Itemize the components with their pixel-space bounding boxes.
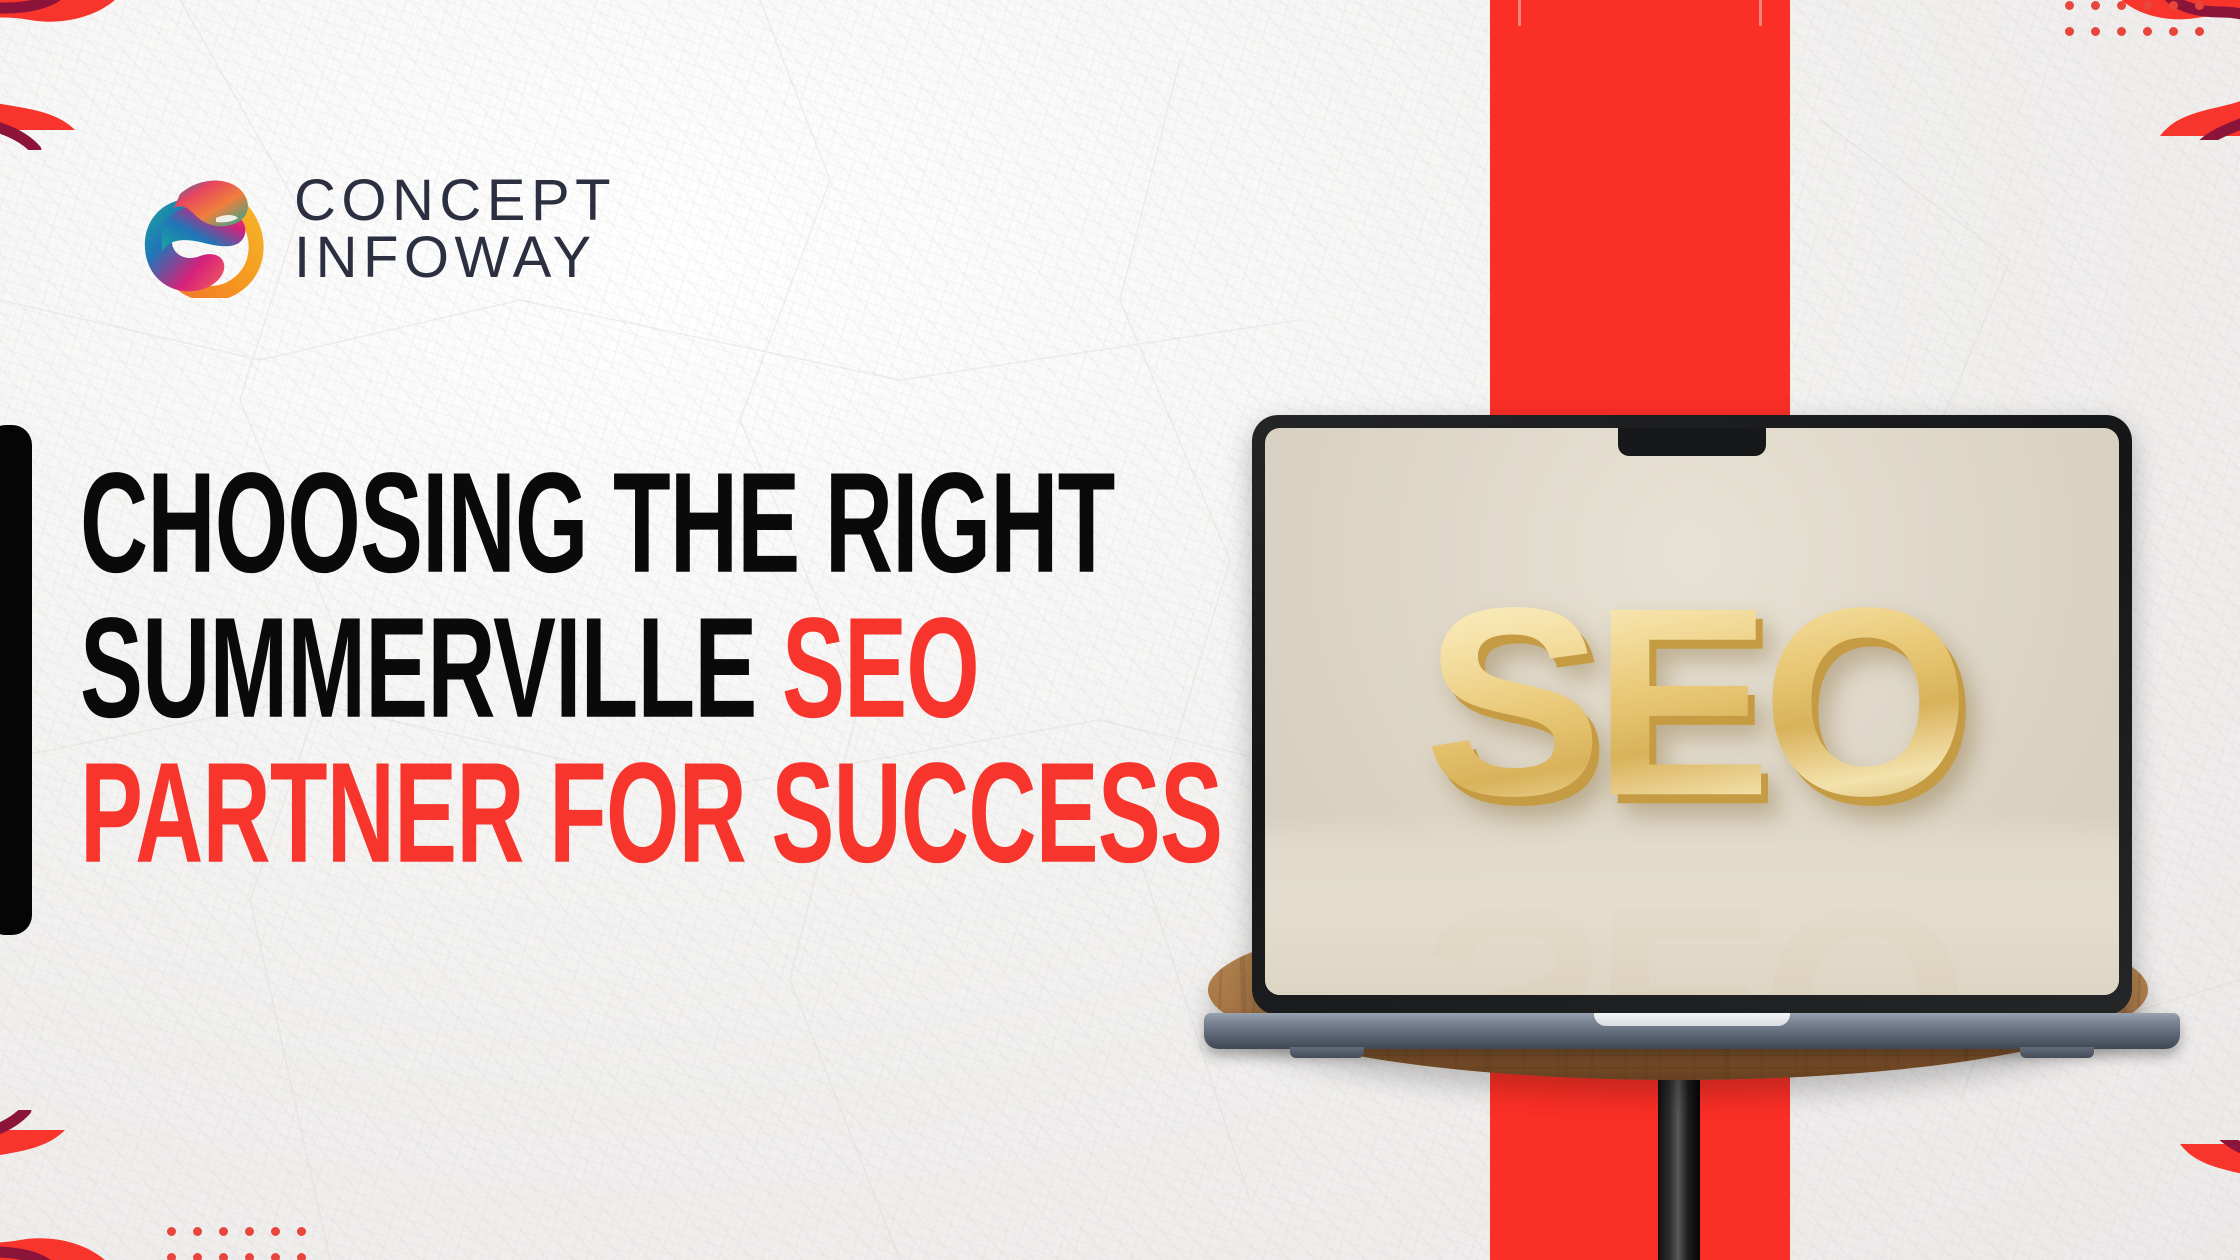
dot-grid-bottom-left <box>158 1218 314 1260</box>
dot <box>210 1218 236 1244</box>
dot <box>2082 0 2108 18</box>
dot <box>2108 18 2134 44</box>
headline-line-2: SUMMERVILLE SEO <box>80 597 1024 741</box>
headline-line-2-red: SEO <box>782 589 979 749</box>
headline-line-1: CHOOSING THE RIGHT <box>80 452 1024 596</box>
brand-logo[interactable]: CONCEPT INFOWAY <box>138 160 616 298</box>
banner-canvas: CONCEPT INFOWAY CHOOSING THE RIGHT SUMME… <box>0 0 2240 1260</box>
laptop-base <box>1204 1013 2180 1049</box>
red-blob-top-right <box>2020 0 2240 140</box>
dot <box>2056 18 2082 44</box>
dot-grid-top-right <box>2056 0 2212 44</box>
red-blob-bottom-left <box>0 1110 230 1260</box>
laptop-on-table-illustration: SEO SEO <box>1160 415 2220 1260</box>
headline-block: CHOOSING THE RIGHT SUMMERVILLE SEO PARTN… <box>80 452 1260 862</box>
dot <box>262 1244 288 1260</box>
dot <box>288 1244 314 1260</box>
black-accent-bar <box>0 425 32 935</box>
laptop-foot-left <box>1290 1047 1364 1058</box>
dot <box>184 1244 210 1260</box>
seo-gold-3d-text: SEO <box>1424 567 1960 835</box>
dot <box>2160 18 2186 44</box>
headline-line-3: PARTNER FOR SUCCESS <box>80 742 1024 886</box>
brand-name-line1: CONCEPT <box>294 172 616 229</box>
dot <box>2186 18 2212 44</box>
headline-space <box>757 589 782 749</box>
dot <box>236 1244 262 1260</box>
dot <box>2186 0 2212 18</box>
concept-infoway-swirl-icon <box>138 160 270 298</box>
dot <box>158 1244 184 1260</box>
headline-line-2-black: SUMMERVILLE <box>80 589 757 749</box>
dot <box>2108 0 2134 18</box>
dot <box>184 1218 210 1244</box>
dot <box>2134 18 2160 44</box>
screen-notch <box>1618 428 1766 456</box>
table-pedestal-stem <box>1658 1060 1700 1260</box>
dot <box>210 1244 236 1260</box>
red-blob-top-left <box>0 0 240 150</box>
dot <box>262 1218 288 1244</box>
dot <box>2134 0 2160 18</box>
dot <box>2082 18 2108 44</box>
laptop-lid: SEO SEO <box>1252 415 2132 1015</box>
laptop-base-notch <box>1594 1013 1790 1026</box>
laptop: SEO SEO <box>1252 415 2132 1015</box>
brand-wordmark: CONCEPT INFOWAY <box>294 172 616 287</box>
dot <box>2056 0 2082 18</box>
dot <box>236 1218 262 1244</box>
brand-name-line2: INFOWAY <box>294 229 616 286</box>
dot <box>288 1218 314 1244</box>
dot <box>158 1218 184 1244</box>
laptop-foot-right <box>2020 1047 2094 1058</box>
dot <box>2160 0 2186 18</box>
laptop-screen: SEO SEO <box>1265 428 2119 995</box>
